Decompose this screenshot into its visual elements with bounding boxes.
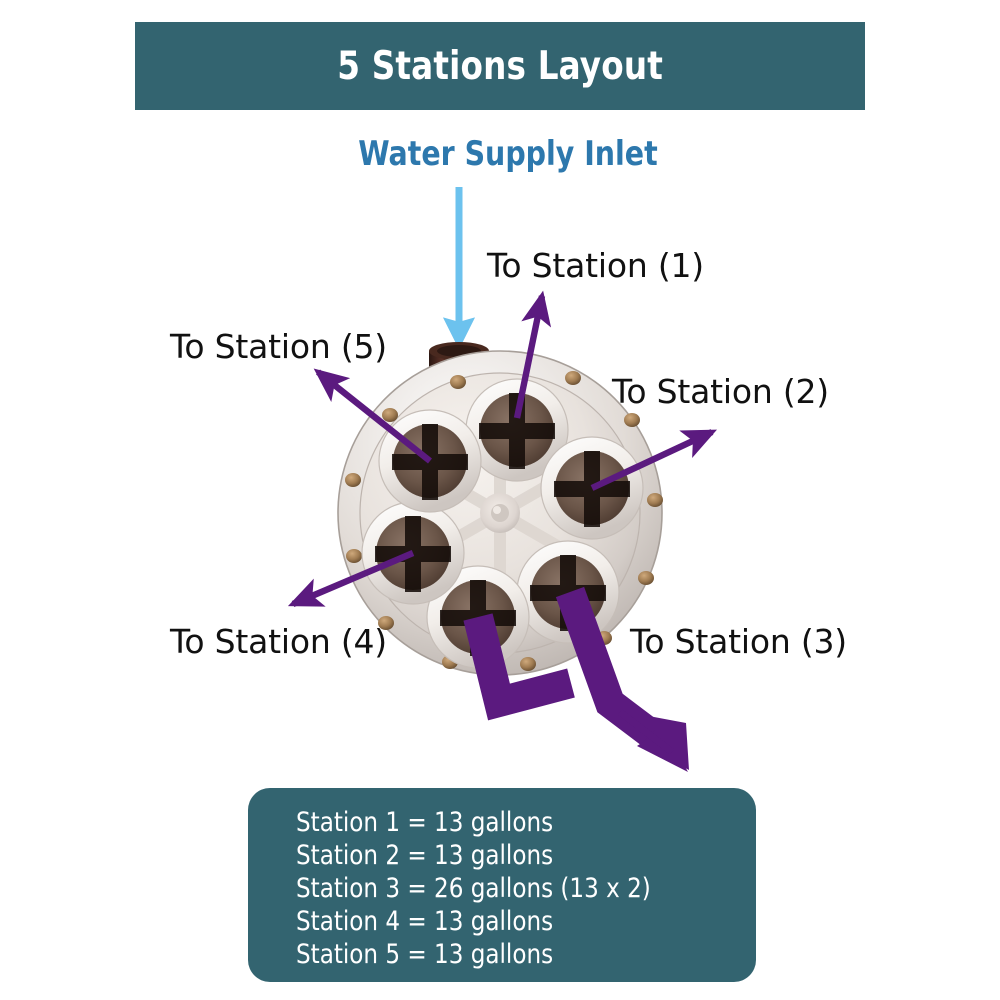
- legend-line-5: Station 5 = 13 gallons: [296, 938, 733, 971]
- legend-box: Station 1 = 13 gallons Station 2 = 13 ga…: [248, 788, 756, 982]
- manifold-body: [338, 342, 663, 675]
- legend-line-4: Station 4 = 13 gallons: [296, 905, 733, 938]
- legend-line-3: Station 3 = 26 gallons (13 x 2): [296, 872, 733, 905]
- legend-line-1: Station 1 = 13 gallons: [296, 806, 733, 839]
- diagram-page: 5 Stations Layout Water Supply Inlet To …: [0, 0, 1000, 1000]
- legend-line-2: Station 2 = 13 gallons: [296, 839, 733, 872]
